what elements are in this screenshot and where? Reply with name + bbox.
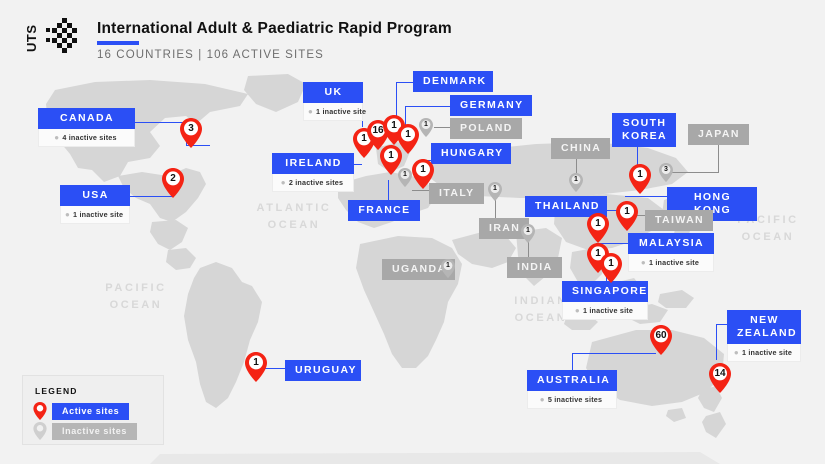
infographic-root: UTS International Adult & Paediatric Rap…	[0, 0, 825, 464]
connector-france-v	[388, 180, 389, 200]
connector-hong-kong	[625, 196, 668, 197]
map-pin-glyph-icon: ●	[281, 178, 286, 187]
pin-thailand[interactable]: 1	[587, 213, 609, 243]
glabel-china[interactable]: CHINA	[551, 138, 610, 159]
marker-uganda[interactable]: 1	[441, 259, 455, 278]
page-subtitle: 16 COUNTRIES | 106 ACTIVE SITES	[97, 49, 324, 61]
pin-south-korea[interactable]: 1	[629, 164, 651, 194]
callout-australia-inactive: ●5 inactive sites	[527, 391, 617, 409]
callout-canada-label: CANADA	[38, 108, 135, 129]
callout-uruguay[interactable]: URUGUAY	[285, 360, 361, 381]
callout-ireland[interactable]: IRELAND ●2 inactive sites	[272, 153, 354, 192]
connector-japan-h	[666, 172, 719, 173]
header: UTS International Adult & Paediatric Rap…	[0, 0, 825, 72]
callout-hungary-label: HUNGARY	[431, 143, 511, 164]
glabel-poland[interactable]: POLAND	[450, 118, 522, 139]
callout-france[interactable]: FRANCE	[348, 200, 420, 221]
callout-malaysia[interactable]: MALAYSIA ●1 inactive site	[628, 233, 714, 272]
map-pin-glyph-icon: ●	[308, 107, 313, 116]
marker-india[interactable]: 1	[521, 224, 535, 243]
connector-denmark-h	[396, 82, 414, 83]
marker-poland[interactable]: 1	[419, 118, 433, 137]
connector-germany-h	[405, 106, 451, 107]
legend-row-inactive[interactable]: Inactive sites	[33, 422, 137, 440]
callout-denmark-label: DENMARK	[413, 71, 493, 92]
pin-singapore[interactable]: 1	[600, 253, 622, 283]
callout-singapore[interactable]: SINGAPORE ●1 inactive site	[562, 281, 648, 320]
pin-canada[interactable]: 3	[180, 118, 202, 148]
callout-usa-label: USA	[60, 185, 130, 206]
callout-australia[interactable]: AUSTRALIA ●5 inactive sites	[527, 370, 617, 409]
glabel-taiwan[interactable]: TAIWAN	[645, 210, 713, 231]
callout-ireland-label: IRELAND	[272, 153, 354, 174]
legend-active-label: Active sites	[52, 403, 129, 420]
map-pin-glyph-icon: ●	[734, 348, 739, 357]
callout-ireland-inactive: ●2 inactive sites	[272, 174, 354, 192]
connector-ireland-h	[354, 164, 362, 165]
callout-uk-label: UK	[303, 82, 363, 103]
map-pin-glyph-icon: ●	[641, 258, 646, 267]
callout-canada[interactable]: CANADA ●4 inactive sites	[38, 108, 135, 147]
glabel-italy[interactable]: ITALY	[429, 183, 484, 204]
legend-row-active[interactable]: Active sites	[33, 402, 129, 420]
map-pin-glyph-icon: ●	[540, 395, 545, 404]
callout-uruguay-label: URUGUAY	[285, 360, 361, 381]
callout-usa[interactable]: USA ●1 inactive site	[60, 185, 130, 224]
callout-france-label: FRANCE	[348, 200, 420, 221]
callout-south-korea-label: SOUTH KOREA	[612, 113, 676, 147]
marker-japan[interactable]: 3	[659, 163, 673, 182]
title-underline	[97, 41, 139, 45]
callout-canada-inactive: ●4 inactive sites	[38, 129, 135, 147]
callout-hungary[interactable]: HUNGARY	[431, 143, 511, 164]
pin-hungary[interactable]: 1	[412, 159, 434, 189]
legend-inactive-label: Inactive sites	[52, 423, 137, 440]
legend-active-pin-icon	[33, 402, 47, 420]
glabel-japan[interactable]: JAPAN	[688, 124, 749, 145]
map-pin-glyph-icon: ●	[575, 306, 580, 315]
callout-germany-label: GERMANY	[450, 95, 532, 116]
callout-malaysia-label: MALAYSIA	[628, 233, 714, 254]
callout-uk-inactive: ●1 inactive site	[303, 103, 363, 121]
connector-australia-h	[572, 353, 656, 354]
legend-inactive-pin-icon	[33, 422, 47, 440]
connector-new-zealand-v	[716, 324, 717, 360]
connector-germany-v	[405, 106, 406, 126]
callout-south-korea[interactable]: SOUTH KOREA	[612, 113, 676, 147]
connector-italy	[412, 190, 430, 191]
callout-denmark[interactable]: DENMARK	[413, 71, 493, 92]
pin-new-zealand[interactable]: 14	[709, 363, 731, 393]
uts-logo: UTS	[22, 17, 84, 57]
callout-uk[interactable]: UK ●1 inactive site	[303, 82, 363, 121]
connector-australia-v	[572, 353, 573, 371]
svg-text:UTS: UTS	[24, 25, 39, 53]
pin-uruguay[interactable]: 1	[245, 352, 267, 382]
marker-iran[interactable]: 1	[488, 182, 502, 201]
callout-singapore-label: SINGAPORE	[562, 281, 648, 302]
callout-germany[interactable]: GERMANY	[450, 95, 532, 116]
callout-new-zealand-inactive: ●1 inactive site	[727, 344, 801, 362]
map-pin-glyph-icon: ●	[54, 133, 59, 142]
glabel-india[interactable]: INDIA	[507, 257, 562, 278]
marker-china[interactable]: 1	[569, 173, 583, 192]
map-pin-glyph-icon: ●	[65, 210, 70, 219]
pin-usa[interactable]: 2	[162, 168, 184, 198]
callout-malaysia-inactive: ●1 inactive site	[628, 254, 714, 272]
pin-hong-kong[interactable]: 1	[616, 201, 638, 231]
legend: LEGEND Active sites Inactive sites	[22, 375, 164, 445]
callout-new-zealand-label: NEW ZEALAND	[727, 310, 801, 344]
callout-new-zealand[interactable]: NEW ZEALAND ●1 inactive site	[727, 310, 801, 362]
pin-france[interactable]: 1	[380, 145, 402, 175]
callout-singapore-inactive: ●1 inactive site	[562, 302, 648, 320]
legend-title: LEGEND	[35, 386, 78, 396]
pin-australia[interactable]: 60	[650, 325, 672, 355]
callout-usa-inactive: ●1 inactive site	[60, 206, 130, 224]
page-title: International Adult & Paediatric Rapid P…	[97, 20, 452, 38]
callout-australia-label: AUSTRALIA	[527, 370, 617, 391]
